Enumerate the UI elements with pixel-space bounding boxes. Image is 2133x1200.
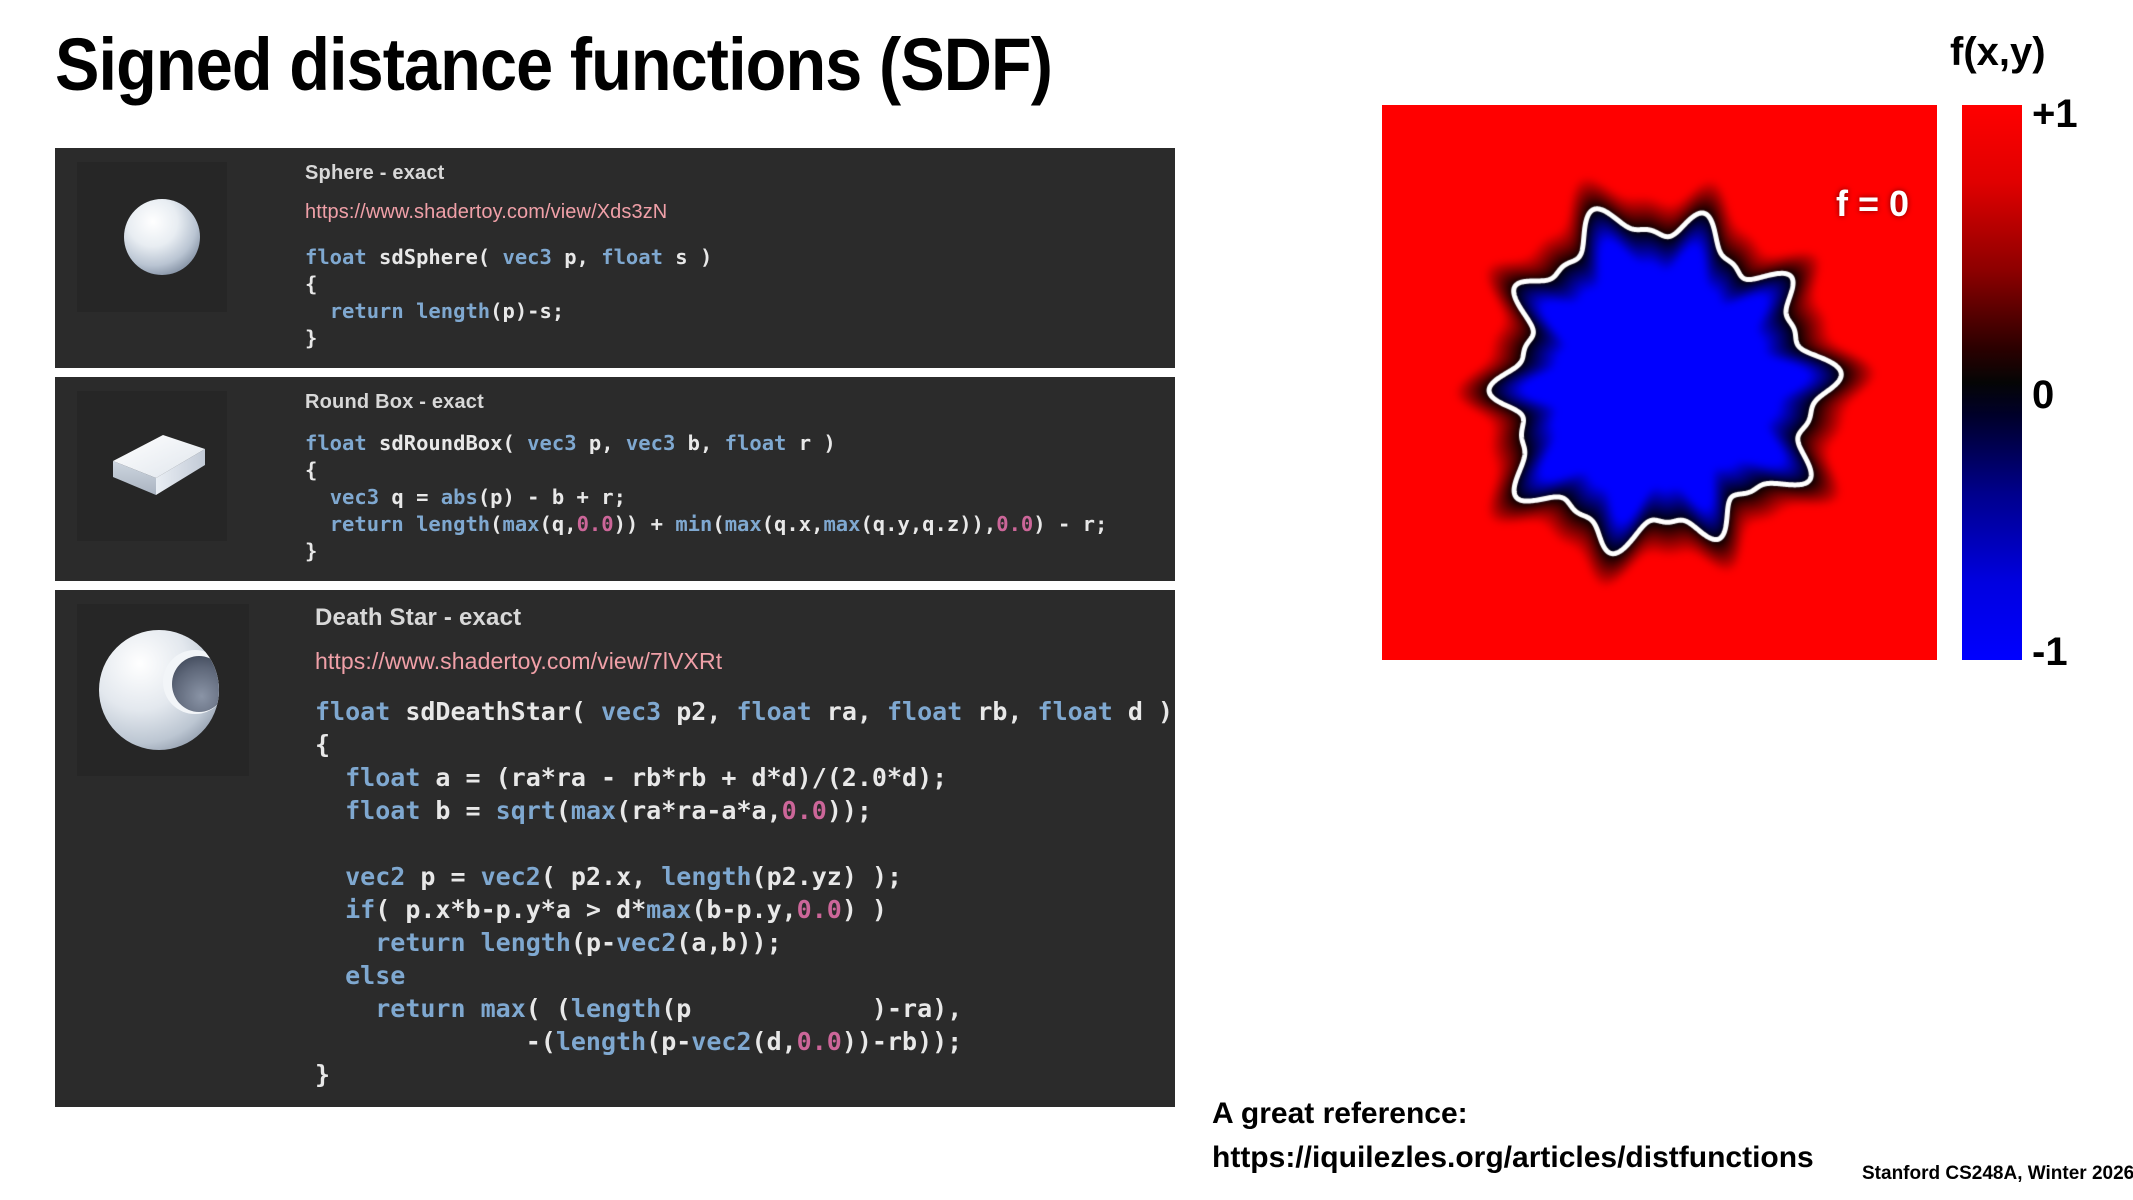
code-token: p2, xyxy=(661,697,736,726)
colorbar-gradient xyxy=(1962,105,2022,660)
code-token: max xyxy=(725,512,762,536)
code-token: vec3 xyxy=(626,431,675,455)
code-token: (a,b)); xyxy=(676,928,781,957)
code-token xyxy=(315,961,345,990)
code-token: length xyxy=(416,512,490,536)
code-token: (ra*ra-a*a, xyxy=(616,796,782,825)
code-token: length xyxy=(571,994,661,1023)
code-token: length xyxy=(556,1027,646,1056)
code-token: float xyxy=(305,431,367,455)
code-line: return length(p)-s; xyxy=(305,298,1175,325)
sphere-render-thumbnail xyxy=(77,162,227,312)
code-line: float sdSphere( vec3 p, float s ) xyxy=(305,244,1175,271)
code-token: max xyxy=(481,994,526,1023)
code-token xyxy=(315,796,345,825)
code-token: float xyxy=(305,245,367,269)
code-line: { xyxy=(305,457,1175,484)
code-token xyxy=(466,928,481,957)
code-token: { xyxy=(315,730,330,759)
code-token: return xyxy=(375,994,465,1023)
code-line: float b = sqrt(max(ra*ra-a*a,0.0)); xyxy=(315,794,1175,827)
code-token: rb, xyxy=(962,697,1037,726)
code-token: vec2 xyxy=(345,862,405,891)
code-token: ( ( xyxy=(526,994,571,1023)
code-token: (q.y,q.z)), xyxy=(860,512,996,536)
code-token: { xyxy=(305,458,317,482)
code-token: p, xyxy=(577,431,626,455)
code-token: s ) xyxy=(663,245,712,269)
code-token: float xyxy=(1038,697,1113,726)
card-title: Death Star - exact xyxy=(315,604,1175,632)
glsl-code-block: float sdSphere( vec3 p, float s ){ retur… xyxy=(305,244,1175,352)
code-token: } xyxy=(305,326,317,350)
sdf-field-visualization: f = 0 xyxy=(1382,105,1937,660)
code-token xyxy=(315,994,375,1023)
glsl-code-block: float sdRoundBox( vec3 p, vec3 b, float … xyxy=(305,430,1175,565)
code-token: 0.0 xyxy=(577,512,614,536)
code-line: { xyxy=(315,728,1175,761)
code-token: vec2 xyxy=(691,1027,751,1056)
code-token: b = xyxy=(420,796,495,825)
code-token: max xyxy=(646,895,691,924)
code-token: (p2.yz) ); xyxy=(752,862,903,891)
code-token: ( p2.x, xyxy=(541,862,661,891)
card-shadertoy-url[interactable]: https://www.shadertoy.com/view/Xds3zN xyxy=(305,201,1175,224)
code-token: } xyxy=(315,1060,330,1089)
code-token: (p- xyxy=(571,928,616,957)
code-token xyxy=(404,512,416,536)
code-token xyxy=(305,485,330,509)
code-token xyxy=(315,763,345,792)
code-token: { xyxy=(305,272,317,296)
code-token: float xyxy=(736,697,811,726)
code-token: length xyxy=(416,299,490,323)
code-token: vec3 xyxy=(502,245,551,269)
code-line: return length(max(q,0.0)) + min(max(q.x,… xyxy=(305,511,1175,538)
code-line: float a = (ra*ra - rb*rb + d*d)/(2.0*d); xyxy=(315,761,1175,794)
code-line: float sdDeathStar( vec3 p2, float ra, fl… xyxy=(315,695,1175,728)
code-token xyxy=(315,862,345,891)
code-token: vec3 xyxy=(527,431,576,455)
code-token: sqrt xyxy=(496,796,556,825)
reference-label: A great reference: xyxy=(1212,1092,1814,1136)
code-token: } xyxy=(305,539,317,563)
code-token: float xyxy=(601,245,663,269)
code-token: max xyxy=(571,796,616,825)
code-token: vec3 xyxy=(601,697,661,726)
code-token: (p- xyxy=(646,1027,691,1056)
code-token: a = (ra*ra - rb*rb + d*d)/(2.0*d); xyxy=(420,763,947,792)
code-token: float xyxy=(345,763,420,792)
card-separator xyxy=(55,581,1175,590)
page-title: Signed distance functions (SDF) xyxy=(55,22,1052,107)
code-token: sdRoundBox( xyxy=(367,431,527,455)
code-token: ( xyxy=(712,512,724,536)
colorbar-title: f(x,y) xyxy=(1950,30,2046,75)
code-token xyxy=(404,299,416,323)
code-token xyxy=(305,512,330,536)
colorbar-tick-positive-one: +1 xyxy=(2032,92,2078,137)
card-title: Round Box - exact xyxy=(305,391,1175,414)
code-token: return xyxy=(330,299,404,323)
code-token: )) + xyxy=(614,512,676,536)
reference-note: A great reference: https://iquilezles.or… xyxy=(1212,1092,1814,1180)
sdf-code-list: Sphere - exacthttps://www.shadertoy.com/… xyxy=(55,148,1175,1107)
colorbar xyxy=(1962,105,2022,660)
code-token: (p )-ra), xyxy=(661,994,962,1023)
death-star-render-thumbnail xyxy=(77,604,249,776)
code-token: (q.x, xyxy=(762,512,824,536)
code-token: sdSphere( xyxy=(367,245,503,269)
code-token: vec2 xyxy=(616,928,676,957)
code-token: ( xyxy=(490,512,502,536)
code-token: max xyxy=(503,512,540,536)
code-token: (p) - b + r; xyxy=(478,485,626,509)
code-token: 0.0 xyxy=(797,895,842,924)
code-token: (p)-s; xyxy=(490,299,564,323)
code-line: if( p.x*b-p.y*a > d*max(b-p.y,0.0) ) xyxy=(315,893,1175,926)
code-token: float xyxy=(725,431,787,455)
code-token: if xyxy=(345,895,375,924)
code-line: } xyxy=(315,1058,1175,1091)
code-token xyxy=(315,895,345,924)
code-token: sdDeathStar( xyxy=(390,697,601,726)
code-token: d ) xyxy=(1113,697,1173,726)
code-token xyxy=(466,994,481,1023)
code-token: return xyxy=(330,512,404,536)
round-box-render-thumbnail xyxy=(77,391,227,541)
code-token xyxy=(315,928,375,957)
code-token: ) - r; xyxy=(1033,512,1107,536)
reference-url[interactable]: https://iquilezles.org/articles/distfunc… xyxy=(1212,1136,1814,1180)
code-line: } xyxy=(305,538,1175,565)
card-title: Sphere - exact xyxy=(305,162,1175,185)
code-token: r ) xyxy=(786,431,835,455)
code-token: float xyxy=(345,796,420,825)
code-token: ( p.x*b-p.y*a > d* xyxy=(375,895,646,924)
code-token: (d, xyxy=(752,1027,797,1056)
code-line: vec2 p = vec2( p2.x, length(p2.yz) ); xyxy=(315,860,1175,893)
code-token: vec2 xyxy=(481,862,541,891)
code-token: 0.0 xyxy=(782,796,827,825)
code-line: return max( (length(p )-ra), xyxy=(315,992,1175,1025)
code-token: )); xyxy=(827,796,872,825)
code-token: q = xyxy=(379,485,441,509)
code-token: ) ) xyxy=(842,895,887,924)
code-line: float sdRoundBox( vec3 p, vec3 b, float … xyxy=(305,430,1175,457)
code-line: } xyxy=(305,325,1175,352)
colorbar-tick-negative-one: -1 xyxy=(2032,630,2068,675)
code-token: else xyxy=(345,961,405,990)
sdf-code-card: Sphere - exacthttps://www.shadertoy.com/… xyxy=(55,148,1175,368)
code-token: -( xyxy=(315,1027,556,1056)
sdf-code-card: Round Box - exactfloat sdRoundBox( vec3 … xyxy=(55,377,1175,581)
code-line: else xyxy=(315,959,1175,992)
code-token: return xyxy=(375,928,465,957)
code-token: float xyxy=(315,697,390,726)
code-token: (b-p.y, xyxy=(691,895,796,924)
code-token: b, xyxy=(675,431,724,455)
code-line: -(length(p-vec2(d,0.0))-rb)); xyxy=(315,1025,1175,1058)
code-token: min xyxy=(675,512,712,536)
card-separator xyxy=(55,368,1175,377)
code-line xyxy=(315,827,1175,860)
zero-level-set-label: f = 0 xyxy=(1836,183,1909,225)
code-token: length xyxy=(481,928,571,957)
code-token: 0.0 xyxy=(797,1027,842,1056)
course-credit: Stanford CS248A, Winter 2026 xyxy=(1862,1163,2133,1185)
sdf-code-card: Death Star - exacthttps://www.shadertoy.… xyxy=(55,590,1175,1107)
colorbar-tick-zero: 0 xyxy=(2032,373,2054,418)
code-line: { xyxy=(305,271,1175,298)
code-token xyxy=(305,299,330,323)
card-shadertoy-url[interactable]: https://www.shadertoy.com/view/7lVXRt xyxy=(315,648,1175,675)
code-token: length xyxy=(661,862,751,891)
code-token: (q, xyxy=(540,512,577,536)
code-token: vec3 xyxy=(330,485,379,509)
code-token: 0.0 xyxy=(996,512,1033,536)
code-line: vec3 q = abs(p) - b + r; xyxy=(305,484,1175,511)
code-token: max xyxy=(823,512,860,536)
code-token: ( xyxy=(556,796,571,825)
code-token: ))-rb)); xyxy=(842,1027,962,1056)
code-line: return length(p-vec2(a,b)); xyxy=(315,926,1175,959)
code-token: abs xyxy=(441,485,478,509)
code-token: p = xyxy=(405,862,480,891)
code-token: p, xyxy=(552,245,601,269)
glsl-code-block: float sdDeathStar( vec3 p2, float ra, fl… xyxy=(315,695,1175,1091)
code-token: float xyxy=(887,697,962,726)
code-token: ra, xyxy=(812,697,887,726)
